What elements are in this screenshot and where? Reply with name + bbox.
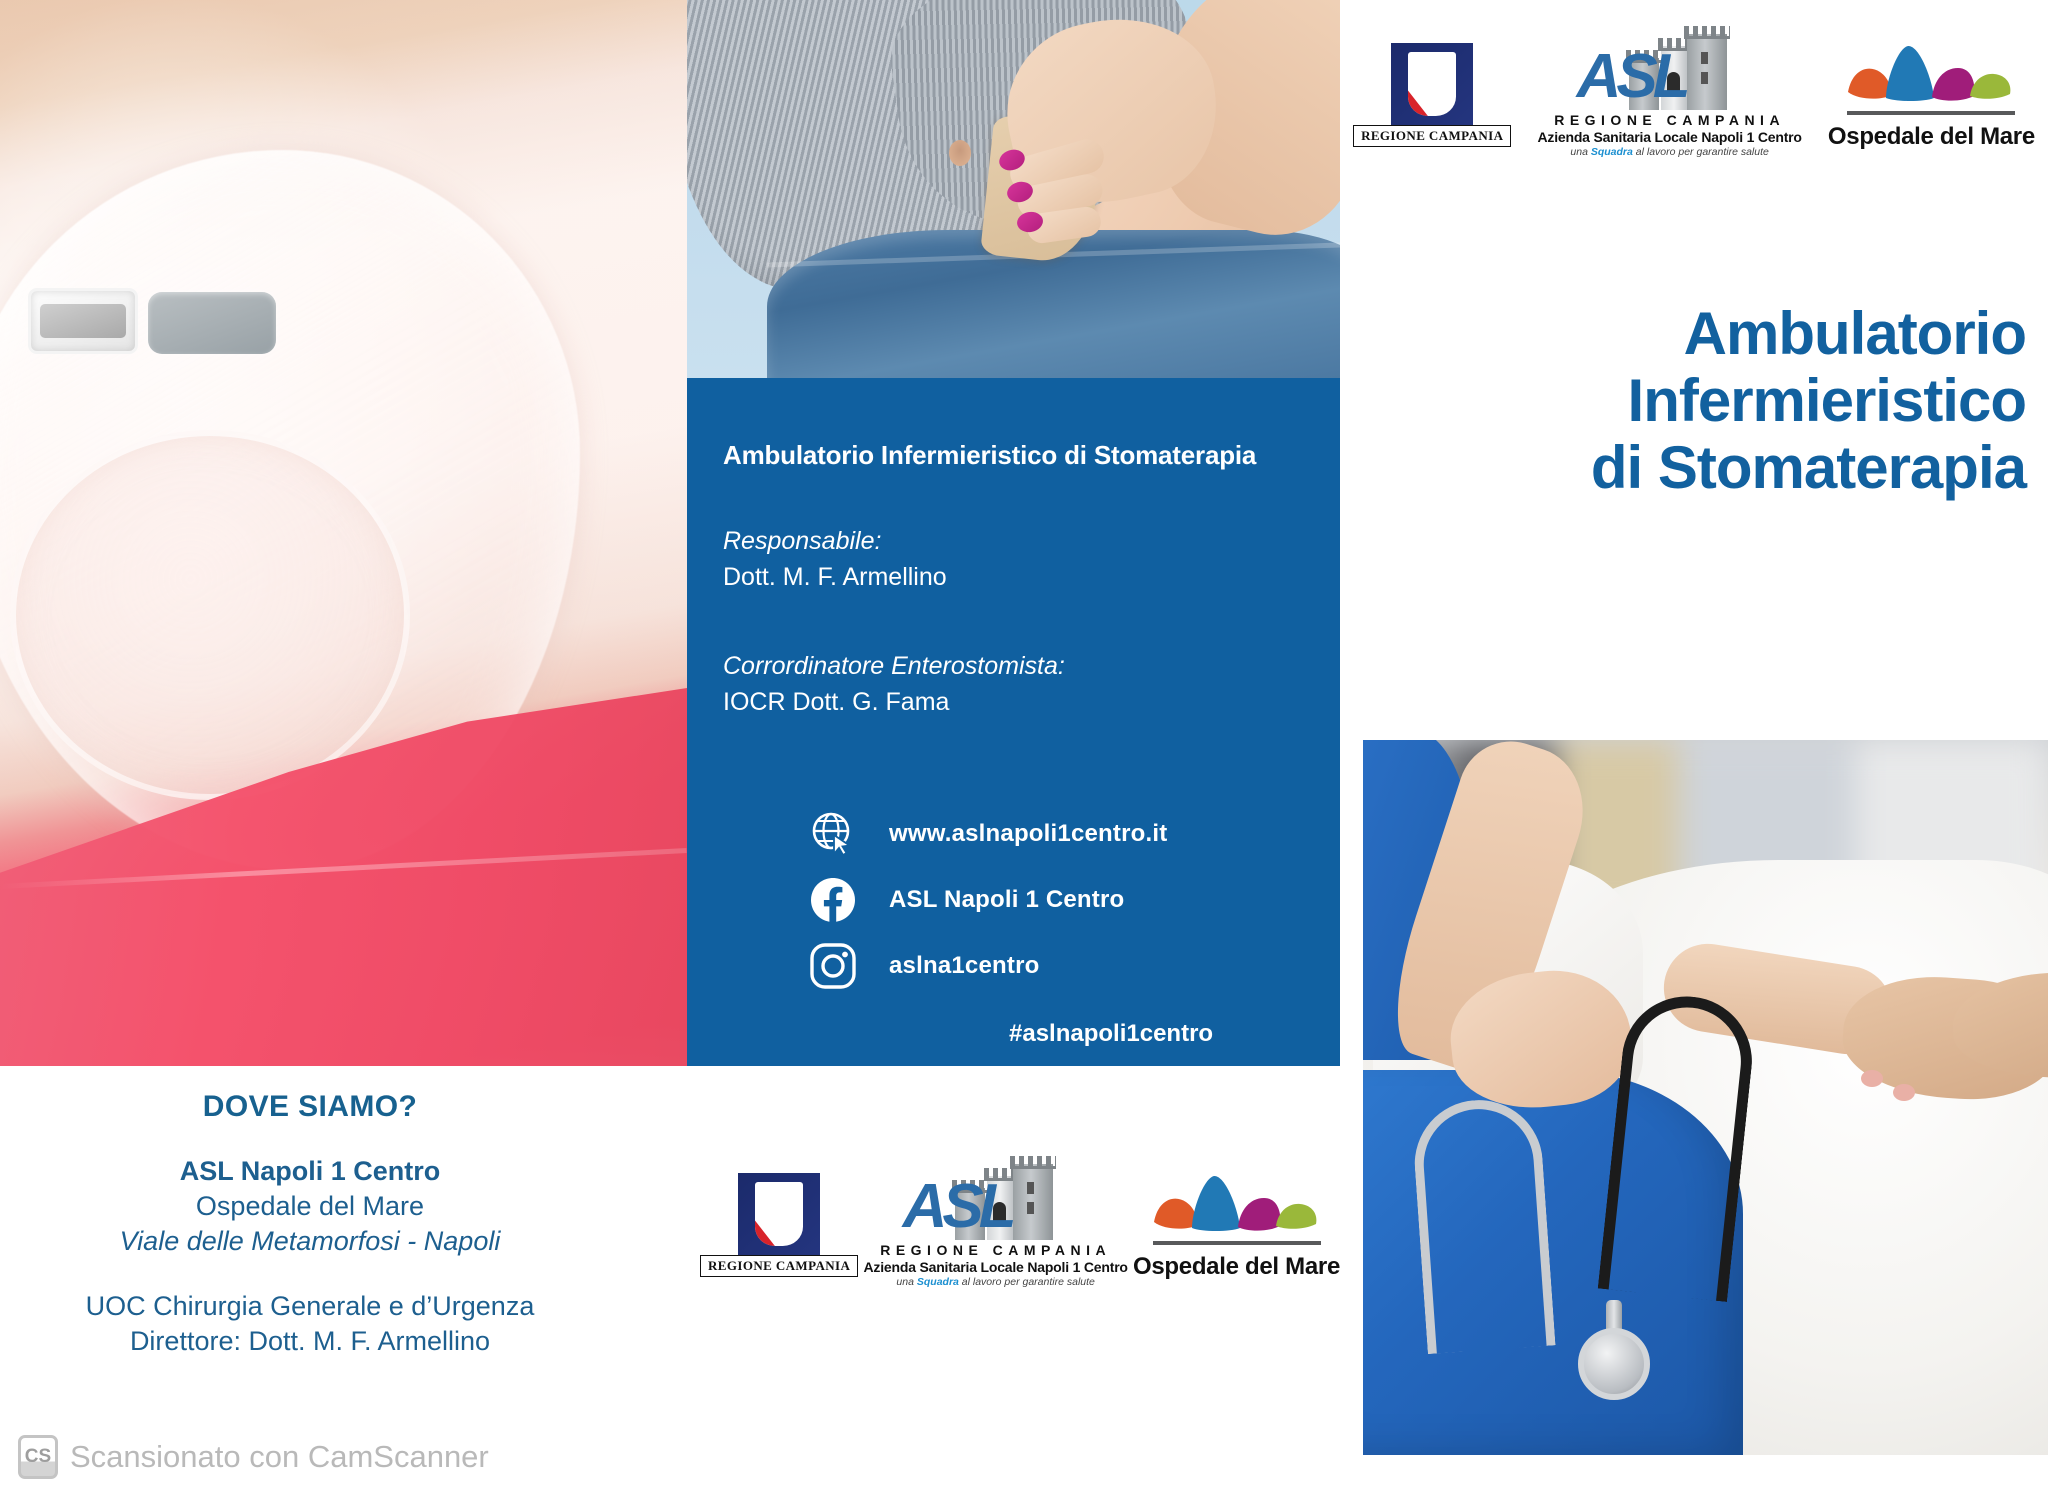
where-spacer-1 bbox=[0, 1124, 620, 1154]
instagram-text: aslna1centro bbox=[889, 952, 1039, 980]
info-panel: Ambulatorio Infermieristico di Stomatera… bbox=[687, 378, 1340, 1066]
asl-tagline-post-bottom: al lavoro per garantire salute bbox=[959, 1276, 1095, 1288]
asl-tagline-bottom: una Squadra al lavoro per garantire salu… bbox=[896, 1276, 1094, 1288]
where-spacer-2 bbox=[0, 1259, 620, 1289]
asl-line-1-bottom: REGIONE CAMPANIA bbox=[880, 1242, 1111, 1258]
hero-title-line-1: Ambulatorio bbox=[1340, 300, 2026, 367]
camscanner-badge-icon: CS bbox=[18, 1435, 58, 1479]
facebook-text: ASL Napoli 1 Centro bbox=[889, 886, 1124, 914]
logo-strip-top: REGIONE CAMPANIA ASL REGIONE CAMPANIA Az… bbox=[1340, 0, 2048, 190]
contact-instagram[interactable]: aslna1centro bbox=[807, 938, 1340, 994]
campania-shield-icon bbox=[1408, 52, 1456, 116]
hero-title: Ambulatorio Infermieristico di Stomatera… bbox=[1340, 300, 2048, 600]
regione-campania-crest-bottom bbox=[738, 1173, 820, 1258]
asl-tagline-pre: una bbox=[1570, 146, 1590, 158]
asl-line-2: Azienda Sanitaria Locale Napoli 1 Centro bbox=[1537, 129, 1801, 145]
regione-campania-logo: REGIONE CAMPANIA bbox=[1353, 43, 1511, 147]
where-director: Direttore: Dott. M. F. Armellino bbox=[0, 1324, 620, 1359]
camscanner-watermark: CS Scansionato con CamScanner bbox=[18, 1435, 489, 1479]
responsabile-value: Dott. M. F. Armellino bbox=[723, 559, 1340, 595]
contact-website[interactable]: www.aslnapoli1centro.it bbox=[807, 806, 1340, 862]
campania-shield-icon-bottom bbox=[755, 1182, 803, 1246]
where-title: DOVE SIAMO? bbox=[0, 1090, 620, 1124]
wave-mountain-icon bbox=[1846, 40, 2016, 106]
asl-tagline-pre-bottom: una bbox=[896, 1276, 916, 1288]
contact-facebook[interactable]: ASL Napoli 1 Centro bbox=[807, 872, 1340, 928]
stethoscope-bell-icon bbox=[1578, 1328, 1650, 1400]
ospedale-del-mare-label-bottom: Ospedale del Mare bbox=[1133, 1253, 1340, 1281]
asl-tagline: una Squadra al lavoro per garantire salu… bbox=[1570, 146, 1768, 158]
coordinatore-label: Corrordinatore Enterostomista: bbox=[723, 648, 1340, 684]
wave-mountain-icon-bottom bbox=[1152, 1170, 1322, 1236]
pouch-clip-gray bbox=[148, 292, 276, 354]
ospedale-del-mare-rule bbox=[1847, 111, 2015, 115]
regione-campania-label-bottom: REGIONE CAMPANIA bbox=[700, 1255, 858, 1277]
asl-napoli-1-centro-logo: ASL REGIONE CAMPANIA Azienda Sanitaria L… bbox=[1537, 32, 1801, 158]
hero-title-line-2: Infermieristico bbox=[1340, 367, 2026, 434]
asl-line-1: REGIONE CAMPANIA bbox=[1554, 112, 1785, 128]
asl-letters: ASL bbox=[1577, 46, 1686, 108]
instagram-icon bbox=[807, 940, 859, 992]
asl-tagline-post: al lavoro per garantire salute bbox=[1633, 146, 1769, 158]
ospedale-del-mare-rule-bottom bbox=[1153, 1241, 1321, 1245]
pouch-clip-white bbox=[28, 288, 138, 354]
camscanner-text: Scansionato con CamScanner bbox=[70, 1439, 489, 1475]
asl-tagline-brand-bottom: Squadra bbox=[917, 1276, 959, 1288]
asl-logo-art: ASL bbox=[1575, 32, 1765, 110]
navel bbox=[949, 140, 971, 166]
contacts-list: www.aslnapoli1centro.it ASL Napoli 1 Cen… bbox=[807, 806, 1340, 1048]
asl-line-2-bottom: Azienda Sanitaria Locale Napoli 1 Centro bbox=[864, 1259, 1128, 1275]
responsabile-block: Responsabile: Dott. M. F. Armellino bbox=[723, 523, 1340, 596]
ospedale-del-mare-logo-bottom: Ospedale del Mare bbox=[1133, 1170, 1340, 1281]
ospedale-del-mare-label: Ospedale del Mare bbox=[1828, 123, 2035, 151]
brochure-page: Ambulatorio Infermieristico di Stomatera… bbox=[0, 0, 2048, 1509]
regione-campania-crest bbox=[1391, 43, 1473, 128]
where-hospital: Ospedale del Mare bbox=[0, 1189, 620, 1224]
ostomy-pouch-photo bbox=[0, 0, 687, 1066]
where-we-are-block: DOVE SIAMO? ASL Napoli 1 Centro Ospedale… bbox=[0, 1090, 620, 1359]
pouch-ring-shape bbox=[10, 430, 410, 800]
patient-nail-2 bbox=[1893, 1084, 1915, 1101]
where-org: ASL Napoli 1 Centro bbox=[0, 1154, 620, 1189]
coordinatore-value: IOCR Dott. G. Fama bbox=[723, 684, 1340, 720]
logo-strip-bottom: REGIONE CAMPANIA ASL REGIONE CAMPANIA Az… bbox=[700, 1140, 1340, 1310]
stethoscope-earpiece bbox=[1410, 1096, 1555, 1354]
hero-title-line-3: di Stomaterapia bbox=[1340, 434, 2026, 501]
asl-logo-art-bottom: ASL bbox=[901, 1162, 1091, 1240]
regione-campania-logo-bottom: REGIONE CAMPANIA bbox=[700, 1173, 858, 1277]
where-unit: UOC Chirurgia Generale e d’Urgenza bbox=[0, 1289, 620, 1324]
patient-nail-1 bbox=[1861, 1070, 1883, 1087]
website-text: www.aslnapoli1centro.it bbox=[889, 820, 1167, 848]
regione-campania-label: REGIONE CAMPANIA bbox=[1353, 125, 1511, 147]
asl-napoli-1-centro-logo-bottom: ASL REGIONE CAMPANIA Azienda Sanitaria L… bbox=[864, 1162, 1128, 1288]
asl-letters-bottom: ASL bbox=[903, 1176, 1012, 1238]
where-address: Viale delle Metamorfosi - Napoli bbox=[0, 1224, 620, 1259]
coordinatore-block: Corrordinatore Enterostomista: IOCR Dott… bbox=[723, 648, 1340, 721]
panel-heading: Ambulatorio Infermieristico di Stomatera… bbox=[723, 440, 1340, 471]
globe-cursor-icon bbox=[807, 808, 859, 860]
responsabile-label: Responsabile: bbox=[723, 523, 1340, 559]
facebook-icon bbox=[807, 874, 859, 926]
abdomen-with-stoma-bag-photo bbox=[687, 0, 1340, 378]
hashtag-text: #aslnapoli1centro bbox=[1009, 1020, 1340, 1048]
asl-tagline-brand: Squadra bbox=[1591, 146, 1633, 158]
nurse-holding-patient-hand-photo bbox=[1363, 740, 2048, 1455]
ospedale-del-mare-logo: Ospedale del Mare bbox=[1828, 40, 2035, 151]
